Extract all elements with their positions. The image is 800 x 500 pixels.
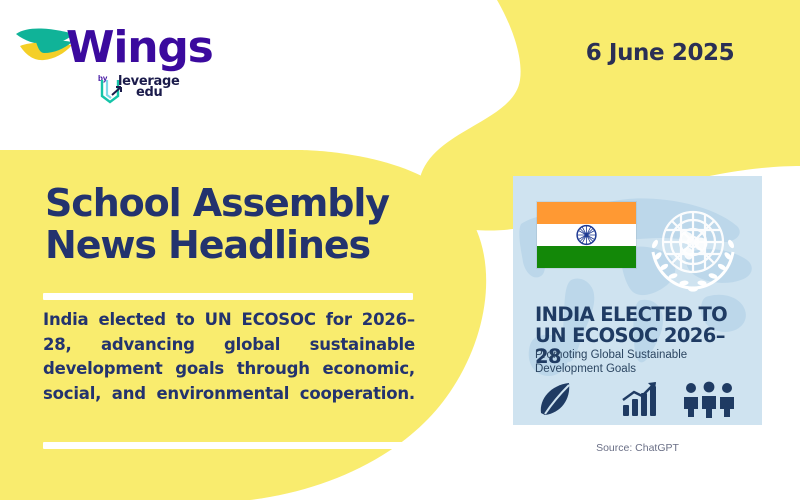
card-icon-row: [535, 379, 745, 421]
date-label: 6 June 2025: [560, 40, 760, 66]
poster-canvas: Wings by leverage edu 6 June 2025 School…: [0, 0, 800, 500]
ashoka-chakra-icon: [577, 226, 596, 245]
source-label: Source: ChatGPT: [513, 442, 762, 454]
brand-logo[interactable]: Wings by leverage edu: [14, 18, 204, 106]
india-flag-icon: [537, 202, 636, 268]
growth-chart-icon: [623, 382, 656, 416]
news-summary-text: India elected to UN ECOSOC for 2026–28, …: [43, 308, 415, 431]
card-title-line1: INDIA ELECTED TO: [535, 304, 750, 325]
page-title: School Assembly News Headlines: [45, 182, 425, 266]
page-title-line1: School Assembly: [45, 182, 425, 224]
card-subtitle: Promoting Global Sustainable Development…: [535, 348, 745, 376]
page-title-line2: News Headlines: [45, 224, 425, 266]
card-subtitle-line2: Development Goals: [535, 362, 745, 376]
brand-sub-wordmark: leverage edu: [118, 76, 179, 98]
brand-wordmark: Wings: [66, 22, 213, 73]
news-image-card: INDIA ELECTED TO UN ECOSOC 2026–28 Promo…: [513, 176, 762, 425]
people-group-icon: [684, 382, 734, 418]
un-emblem: [641, 194, 745, 298]
card-subtitle-line1: Promoting Global Sustainable: [535, 348, 745, 362]
divider-top: [43, 293, 413, 300]
divider-bottom: [43, 442, 413, 449]
leaf-icon: [541, 383, 569, 415]
